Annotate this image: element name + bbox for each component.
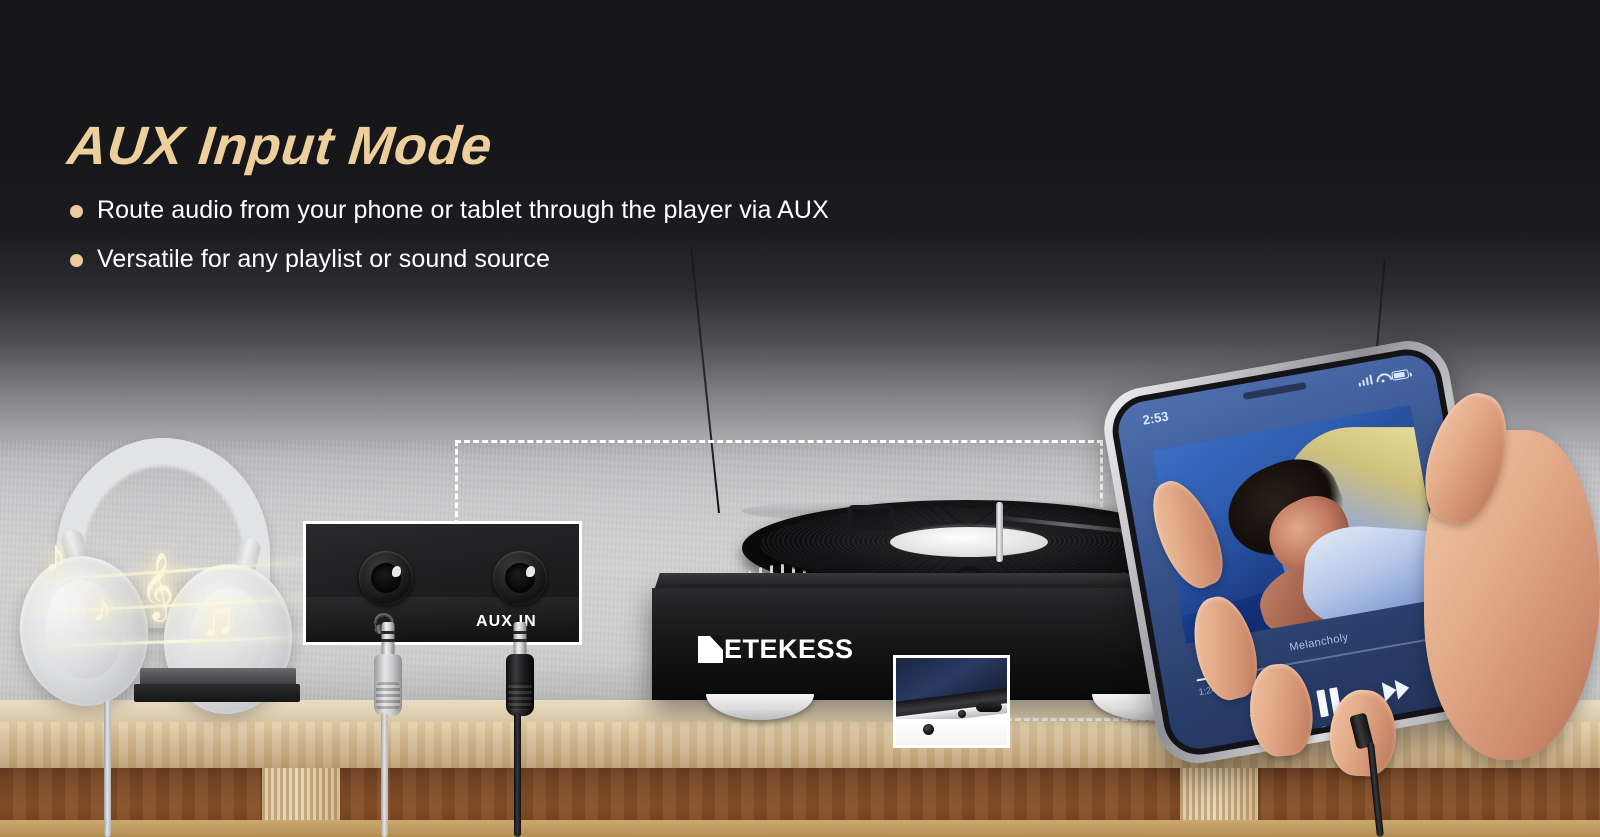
aux-in-jack-port[interactable]	[493, 551, 547, 605]
list-item-label: Versatile for any playlist or sound sour…	[97, 245, 550, 274]
record-label	[890, 527, 1048, 557]
plug-tip	[514, 622, 527, 656]
status-icons	[1357, 368, 1409, 387]
turntable-spindle	[996, 502, 1003, 562]
book-stack-bottom	[134, 684, 300, 702]
brand-logo: ETEKESS	[698, 636, 854, 663]
headphone-cable-left	[104, 700, 111, 837]
aux-panel-callout: 🎧 AUX IN	[303, 521, 582, 645]
jack-highlight	[526, 566, 535, 577]
list-item-label: Route audio from your phone or tablet th…	[97, 196, 829, 225]
headphone-jack-port[interactable]	[359, 551, 413, 605]
brand-mark-icon	[698, 636, 723, 663]
table-lower-shelf	[0, 820, 1600, 837]
bullet-dot-icon	[70, 254, 83, 267]
treble-clef-icon: 𝄞	[140, 552, 174, 620]
bullet-dot-icon	[70, 205, 83, 218]
signal-bars-icon	[1357, 374, 1373, 386]
wifi-icon	[1375, 373, 1388, 384]
aux-cable	[514, 712, 521, 837]
plug-body	[506, 654, 534, 716]
brand-name: ETEKESS	[724, 636, 854, 663]
inset-background	[896, 719, 1007, 745]
tonearm-rest	[848, 505, 894, 530]
inset-microphone-icon	[958, 710, 966, 718]
page-title: AUX Input Mode	[65, 115, 495, 177]
music-note-icon: ♪	[44, 528, 67, 582]
inset-charging-port-icon	[976, 702, 1002, 712]
product-feature-banner: AUX Input Mode Route audio from your pho…	[0, 0, 1600, 837]
plug-body	[374, 654, 402, 716]
list-item: Route audio from your phone or tablet th…	[70, 196, 829, 225]
beamed-notes-icon: ♫	[200, 592, 236, 647]
plug-tip	[382, 622, 395, 656]
callout-path-top-horizontal	[455, 440, 1103, 443]
headphone-cable	[381, 712, 388, 837]
phone-port-closeup-inset	[893, 655, 1010, 748]
jack-highlight	[392, 566, 401, 577]
music-note-icon: ♪	[92, 586, 112, 631]
list-item: Versatile for any playlist or sound sour…	[70, 245, 829, 274]
battery-icon	[1391, 369, 1409, 381]
feature-list: Route audio from your phone or tablet th…	[70, 196, 829, 294]
callout-path-left-vertical	[455, 440, 458, 526]
status-time: 2:53	[1141, 408, 1169, 427]
aux-plug	[500, 622, 540, 718]
inset-headphone-jack-icon	[923, 724, 934, 735]
headphone-plug	[368, 622, 408, 718]
